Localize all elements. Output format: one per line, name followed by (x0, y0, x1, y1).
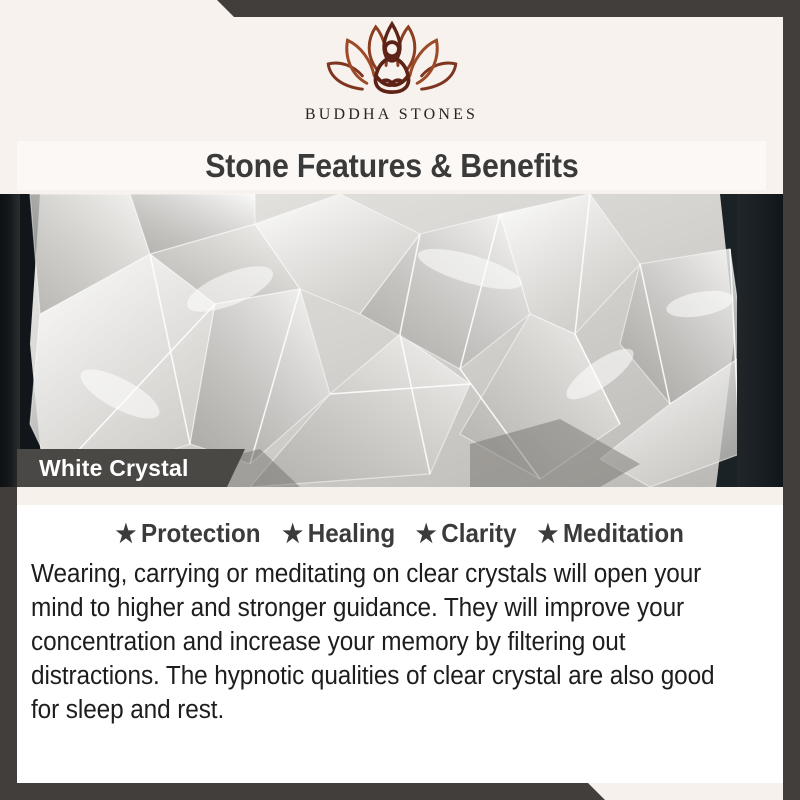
brand-wordmark: BUDDHA STONES (305, 106, 478, 124)
benefit-item-healing: ★ Healing (283, 518, 396, 549)
frame-right-bar (783, 17, 800, 800)
white-crystal-cluster-photo (0, 194, 800, 487)
benefit-item-clarity: ★ Clarity (416, 518, 517, 549)
benefit-label: Healing (308, 518, 395, 549)
photo-left-vignette (0, 194, 20, 487)
benefit-label: Protection (141, 518, 261, 549)
stone-name-tag: White Crystal (17, 449, 245, 487)
content-section: ★ Protection ★ Healing ★ Clarity ★ Medit… (17, 505, 783, 783)
benefit-item-protection: ★ Protection (116, 518, 261, 549)
star-icon: ★ (538, 519, 559, 549)
infographic-page: BUDDHA STONES Stone Features & Benefits (0, 0, 800, 800)
header-section: BUDDHA STONES Stone Features & Benefits (0, 0, 783, 194)
benefit-item-meditation: ★ Meditation (538, 518, 684, 549)
star-icon: ★ (416, 519, 437, 549)
star-icon: ★ (116, 519, 137, 549)
lotus-meditation-icon (317, 18, 467, 104)
star-icon: ★ (283, 519, 304, 549)
benefits-row: ★ Protection ★ Healing ★ Clarity ★ Medit… (17, 505, 783, 549)
benefit-label: Clarity (441, 518, 516, 549)
photo-right-vignette (737, 194, 783, 487)
description-text: Wearing, carrying or meditating on clear… (31, 558, 734, 728)
frame-bottom-bar (0, 783, 800, 800)
content-top-strip (17, 487, 783, 505)
stone-name-label: White Crystal (39, 455, 189, 482)
page-title-band: Stone Features & Benefits (17, 141, 766, 190)
benefit-label: Meditation (563, 518, 684, 549)
frame-left-bar (0, 487, 17, 783)
page-title: Stone Features & Benefits (205, 147, 578, 185)
brand-logo: BUDDHA STONES (0, 18, 783, 124)
